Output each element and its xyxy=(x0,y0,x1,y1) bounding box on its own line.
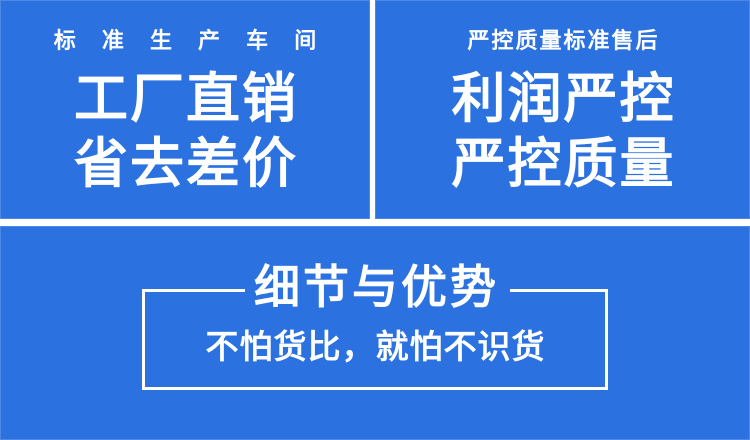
right-panel-headline-line2: 严控质量 xyxy=(375,137,750,191)
promo-banner: 标 准 生 产 车 间 工厂直销 省去差价 严控质量标准售后 利润严控 严控质量… xyxy=(0,0,750,440)
panel-details-advantages: 细节与优势 不怕货比，就怕不识货 xyxy=(0,226,750,440)
panel-factory-direct: 标 准 生 产 车 间 工厂直销 省去差价 xyxy=(0,0,370,219)
left-panel-headline-line2: 省去差价 xyxy=(0,137,370,191)
right-panel-headline-line1: 利润严控 xyxy=(375,72,750,126)
left-panel-eyebrow: 标 准 生 产 车 间 xyxy=(0,30,370,52)
bottom-panel-title: 细节与优势 xyxy=(0,264,750,310)
panel-quality-control: 严控质量标准售后 利润严控 严控质量 xyxy=(375,0,750,219)
right-panel-eyebrow: 严控质量标准售后 xyxy=(375,30,750,52)
left-panel-headline-line1: 工厂直销 xyxy=(0,72,370,126)
bottom-panel-subtitle: 不怕货比，就怕不识货 xyxy=(0,330,750,363)
